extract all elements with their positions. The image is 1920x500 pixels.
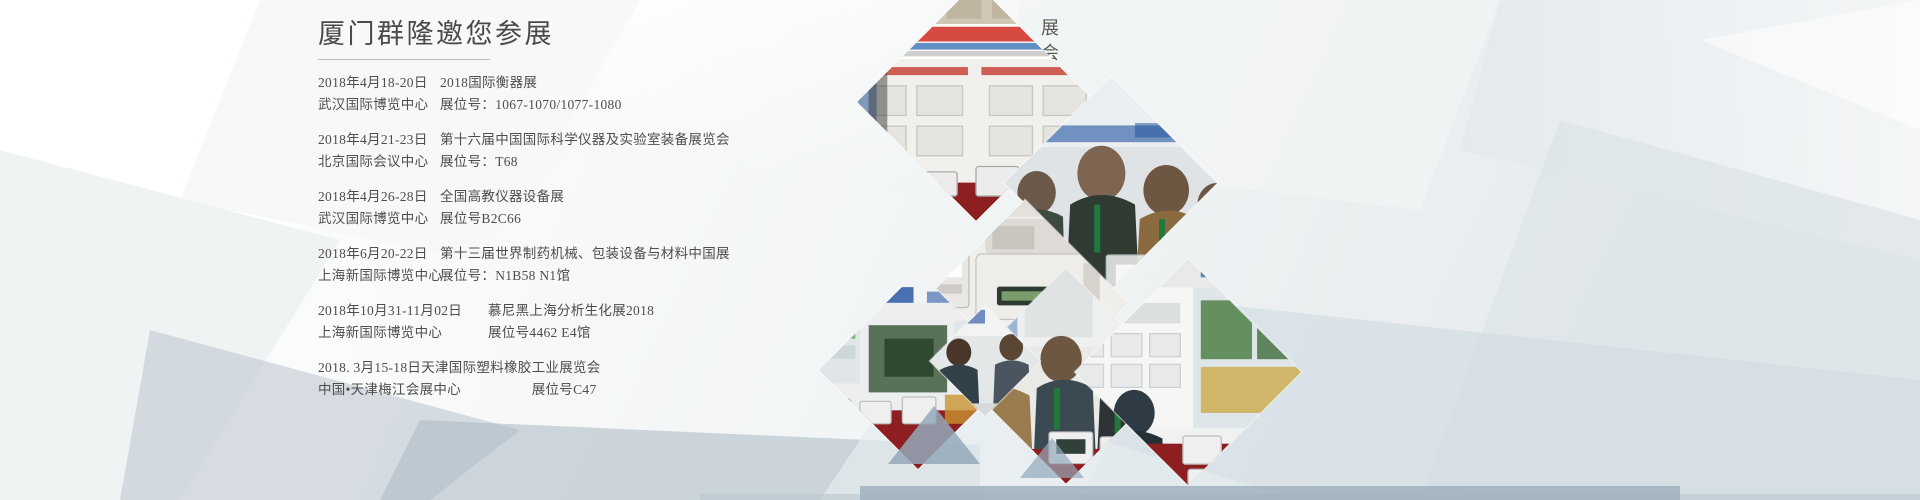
event-venue: 上海新国际博览中心 [318, 265, 440, 287]
svg-text:3xCAT: 3xCAT [1211, 259, 1261, 276]
event-date: 2018年10月31-11月02日 [318, 300, 488, 322]
event-booth: 展位号：T68 [440, 151, 518, 173]
event-booth: 展位号C47 [532, 382, 597, 397]
event-name: 全国高教仪器设备展 [440, 186, 564, 208]
event-venue: 中国•天津梅江会展中心 [318, 379, 528, 401]
event-name: 2018国际衡器展 [440, 72, 537, 94]
event-booth: 展位号4462 E4馆 [488, 322, 591, 344]
event-name: 第十六届中国国际科学仪器及实验室装备展览会 [440, 129, 730, 151]
decorative-triangle [1020, 438, 1084, 478]
event-date: 2018年4月18-20日 [318, 72, 440, 94]
event-date: 2018年4月21-23日 [318, 129, 440, 151]
event-name: 第十三届世界制药机械、包装设备与材料中国展 [440, 243, 730, 265]
event-venue: 武汉国际博览中心 [318, 208, 440, 230]
event-date: 2018年6月20-22日 [318, 243, 440, 265]
decorative-triangle [888, 406, 980, 464]
event-date: 2018年4月26-28日 [318, 186, 440, 208]
event-name: 慕尼黑上海分析生化展2018 [488, 300, 654, 322]
event-date: 2018. 3月15-18日天津国际塑料橡胶工业展览会 [318, 360, 601, 375]
event-venue: 上海新国际博览中心 [318, 322, 488, 344]
bottom-accent-bar [860, 486, 1680, 500]
event-booth: 展位号：1067-1070/1077-1080 [440, 94, 622, 116]
title-divider [318, 59, 490, 60]
event-venue: 武汉国际博览中心 [318, 94, 440, 116]
exhibition-banner: 厦门群隆邀您参展 2018年4月18-20日 2018国际衡器展 武汉国际博览中… [0, 0, 1920, 500]
event-booth: 展位号B2C66 [440, 208, 521, 230]
event-venue: 北京国际会议中心 [318, 151, 440, 173]
event-booth: 展位号：N1B58 N1馆 [440, 265, 570, 287]
photo-collage: 展会现场 [840, 0, 1920, 500]
